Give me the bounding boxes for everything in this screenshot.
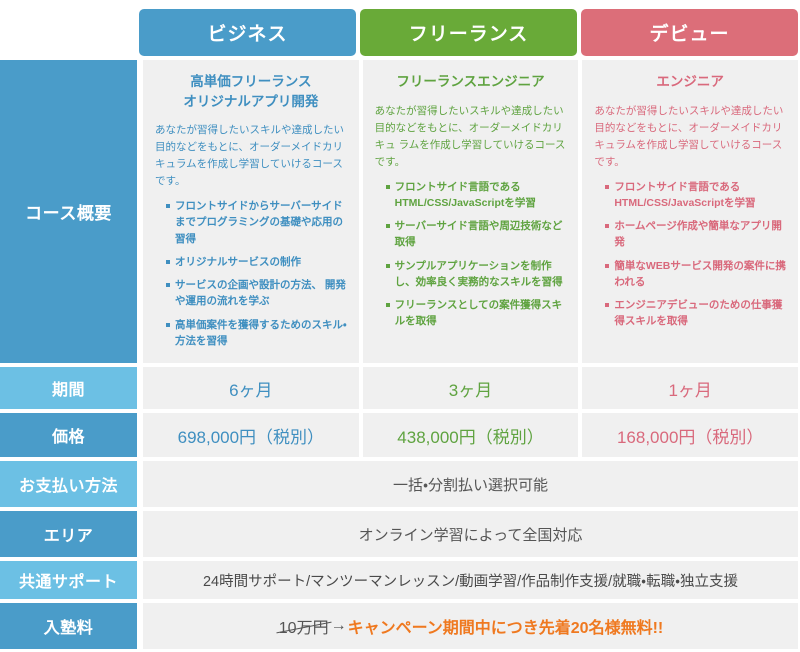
overview-description-business: あなたが習得したいスキルや達成したい目的などをもとに、オーダーメイドカリキュラム… bbox=[155, 122, 347, 190]
fee-old-price: 10万円 bbox=[278, 614, 330, 638]
tab-business[interactable]: ビジネス bbox=[139, 9, 356, 56]
overview-bullet: フリーランスとしての案件獲得スキルを取得 bbox=[386, 297, 567, 330]
enrollment-fee-value: 10万円→キャンペーン期間中につき先着20名様無料!! bbox=[143, 603, 798, 649]
overview-bullet: ホームページ作成や簡単なアプリ開発 bbox=[605, 218, 786, 251]
tab-freelance[interactable]: フリーランス bbox=[360, 9, 577, 56]
row-enrollment-fee: 入塾料 10万円→キャンペーン期間中につき先着20名様無料!! bbox=[0, 603, 800, 649]
price-value-freelance: 438,000円（税別） bbox=[363, 413, 579, 457]
fee-campaign-text: キャンペーン期間中につき先着20名様無料!! bbox=[348, 614, 664, 638]
tab-debut[interactable]: デビュー bbox=[581, 9, 798, 56]
price-value-business: 698,000円（税別） bbox=[143, 413, 359, 457]
row-label-area: エリア bbox=[0, 511, 137, 557]
term-value-debut: 1ヶ月 bbox=[582, 367, 798, 409]
overview-bullet: 高単価案件を獲得するためのスキル・方法を習得 bbox=[166, 317, 347, 350]
plan-tab-row: ビジネス フリーランス デビュー bbox=[0, 0, 800, 60]
support-cells: 24時間サポート/マンツーマンレッスン/動画学習/作品制作支援/就職・転職・独立… bbox=[141, 561, 800, 599]
row-label-price: 価格 bbox=[0, 413, 137, 457]
tab-row-spacer bbox=[0, 0, 137, 56]
overview-bullet: エンジニアデビューのための仕事獲得スキルを取得 bbox=[605, 297, 786, 330]
pricing-comparison-table: ビジネス フリーランス デビュー コース概要 高単価フリーランス オリジナルアプ… bbox=[0, 0, 800, 649]
overview-title-line1: フリーランスエンジニア bbox=[375, 72, 567, 92]
row-label-common-support: 共通サポート bbox=[0, 561, 137, 599]
row-label-enrollment-fee: 入塾料 bbox=[0, 603, 137, 649]
overview-title-debut: エンジニア bbox=[594, 72, 786, 92]
price-cells: 698,000円（税別） 438,000円（税別） 168,000円（税別） bbox=[141, 413, 800, 457]
term-cells: 6ヶ月 3ヶ月 1ヶ月 bbox=[141, 367, 800, 409]
course-overview-cells: 高単価フリーランス オリジナルアプリ開発 あなたが習得したいスキルや達成したい目… bbox=[141, 60, 800, 363]
overview-title-line2: オリジナルアプリ開発 bbox=[155, 92, 347, 112]
row-area: エリア オンライン学習によって全国対応 bbox=[0, 511, 800, 557]
overview-bullets-business: フロントサイドからサーバーサイドまでプログラミングの基礎や応用の習得 オリジナル… bbox=[155, 198, 347, 349]
fee-arrow-icon: → bbox=[331, 617, 347, 635]
overview-cell-debut: エンジニア あなたが習得したいスキルや達成したい目的などをもとに、オーダーメイド… bbox=[582, 60, 798, 363]
overview-bullet: フロントサイドからサーバーサイドまでプログラミングの基礎や応用の習得 bbox=[166, 198, 347, 247]
overview-title-line1: 高単価フリーランス bbox=[155, 72, 347, 92]
overview-bullet: サービスの企画や設計の方法、 開発や運用の流れを学ぶ bbox=[166, 277, 347, 310]
overview-description-freelance: あなたが習得したいスキルや達成したい目的などをもとに、オーダーメイドカリキュ ラ… bbox=[375, 103, 567, 171]
payment-cells: 一括・分割払い選択可能 bbox=[141, 461, 800, 507]
overview-bullet: サンプルアプリケーションを制作し、効率良く実務的なスキルを習得 bbox=[386, 258, 567, 291]
overview-bullet: オリジナルサービスの制作 bbox=[166, 254, 347, 270]
overview-bullet: 簡単なWEBサービス開発の案件に携われる bbox=[605, 258, 786, 291]
overview-bullet: サーバーサイド言語や周辺技術など取得 bbox=[386, 218, 567, 251]
area-value: オンライン学習によって全国対応 bbox=[143, 511, 798, 557]
overview-bullets-freelance: フロントサイド言語であるHTML/CSS/JavaScriptを学習 サーバーサ… bbox=[375, 179, 567, 330]
overview-bullet: フロントサイド言語であるHTML/CSS/JavaScriptを学習 bbox=[386, 179, 567, 212]
overview-bullet: フロントサイド言語であるHTML/CSS/JavaScriptを学習 bbox=[605, 179, 786, 212]
payment-value: 一括・分割払い選択可能 bbox=[143, 461, 798, 507]
fee-cells: 10万円→キャンペーン期間中につき先着20名様無料!! bbox=[141, 603, 800, 649]
row-label-payment-method: お支払い方法 bbox=[0, 461, 137, 507]
overview-cell-business: 高単価フリーランス オリジナルアプリ開発 あなたが習得したいスキルや達成したい目… bbox=[143, 60, 359, 363]
term-value-freelance: 3ヶ月 bbox=[363, 367, 579, 409]
overview-title-line1: エンジニア bbox=[594, 72, 786, 92]
row-term: 期間 6ヶ月 3ヶ月 1ヶ月 bbox=[0, 367, 800, 409]
row-label-term: 期間 bbox=[0, 367, 137, 409]
support-value: 24時間サポート/マンツーマンレッスン/動画学習/作品制作支援/就職・転職・独立… bbox=[143, 561, 798, 599]
area-cells: オンライン学習によって全国対応 bbox=[141, 511, 800, 557]
row-course-overview: コース概要 高単価フリーランス オリジナルアプリ開発 あなたが習得したいスキルや… bbox=[0, 60, 800, 363]
overview-description-debut: あなたが習得したいスキルや達成したい目的などをもとに、オーダーメイドカリ キュラ… bbox=[594, 103, 786, 171]
row-price: 価格 698,000円（税別） 438,000円（税別） 168,000円（税別… bbox=[0, 413, 800, 457]
overview-title-business: 高単価フリーランス オリジナルアプリ開発 bbox=[155, 72, 347, 111]
price-value-debut: 168,000円（税別） bbox=[582, 413, 798, 457]
row-label-course-overview: コース概要 bbox=[0, 60, 137, 363]
overview-bullets-debut: フロントサイド言語であるHTML/CSS/JavaScriptを学習 ホームペー… bbox=[594, 179, 786, 330]
term-value-business: 6ヶ月 bbox=[143, 367, 359, 409]
row-payment-method: お支払い方法 一括・分割払い選択可能 bbox=[0, 461, 800, 507]
row-common-support: 共通サポート 24時間サポート/マンツーマンレッスン/動画学習/作品制作支援/就… bbox=[0, 561, 800, 599]
overview-cell-freelance: フリーランスエンジニア あなたが習得したいスキルや達成したい目的などをもとに、オ… bbox=[363, 60, 579, 363]
overview-title-freelance: フリーランスエンジニア bbox=[375, 72, 567, 92]
